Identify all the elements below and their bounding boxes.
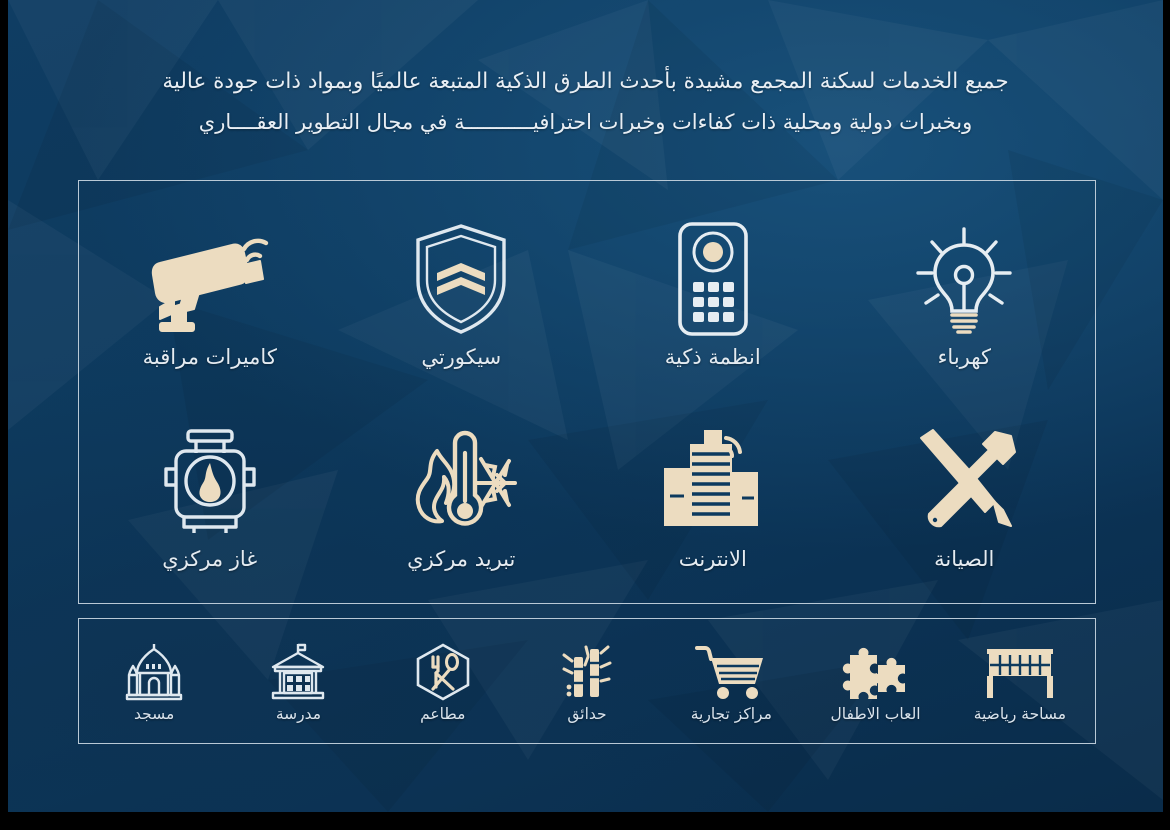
amenity-label: حدائق — [567, 705, 606, 723]
wrench-screwdriver-icon — [907, 423, 1021, 539]
bamboo-plants-icon — [560, 643, 614, 701]
service-item-surveillance-cameras[interactable]: كاميرات مراقبة — [84, 194, 336, 396]
lightbulb-icon — [908, 221, 1020, 337]
service-label: كهرباء — [938, 345, 991, 369]
shopping-cart-icon — [695, 643, 767, 701]
intro-paragraph: جميع الخدمات لسكنة المجمع مشيدة بأحدث ال… — [8, 62, 1163, 142]
poster-root: جميع الخدمات لسكنة المجمع مشيدة بأحدث ال… — [0, 0, 1170, 830]
buildings-wifi-icon — [656, 423, 770, 539]
goal-net-icon — [979, 643, 1061, 701]
services-grid: كهرباء — [78, 180, 1096, 604]
mosque-icon — [123, 643, 185, 701]
poster-canvas: جميع الخدمات لسكنة المجمع مشيدة بأحدث ال… — [8, 0, 1163, 812]
service-item-central-cooling[interactable]: تبريد مركزي — [336, 396, 588, 598]
service-item-internet[interactable]: الانترنت — [587, 396, 839, 598]
service-label: غاز مركزي — [162, 547, 257, 571]
amenity-item-sports-area[interactable]: مساحة رياضية — [948, 630, 1092, 736]
amenity-label: مطاعم — [420, 705, 465, 723]
service-item-security[interactable]: سيكورتي — [336, 194, 588, 396]
gas-cylinder-flame-icon — [154, 423, 266, 539]
service-label: الصيانة — [934, 547, 994, 571]
amenity-item-gardens[interactable]: حدائق — [515, 630, 659, 736]
amenity-item-restaurants[interactable]: مطاعم — [371, 630, 515, 736]
service-label: الانترنت — [679, 547, 747, 571]
service-item-smart-systems[interactable]: انظمة ذكية — [587, 194, 839, 396]
thermometer-snowflake-flame-icon — [399, 423, 523, 539]
service-item-electricity[interactable]: كهرباء — [839, 194, 1091, 396]
amenity-label: العاب الاطفال — [831, 705, 921, 723]
amenity-label: مدرسة — [276, 705, 321, 723]
amenity-item-mosque[interactable]: مسجد — [82, 630, 226, 736]
service-label: سيكورتي — [421, 345, 501, 369]
amenity-label: مسجد — [134, 705, 174, 723]
shield-chevron-icon — [411, 221, 511, 337]
fork-spoon-hexagon-icon — [413, 643, 473, 701]
service-label: انظمة ذكية — [665, 345, 761, 369]
amenity-item-school[interactable]: مدرسة — [226, 630, 370, 736]
service-item-central-gas[interactable]: غاز مركزي — [84, 396, 336, 598]
school-building-icon — [265, 643, 331, 701]
amenity-item-commercial-centers[interactable]: مراكز تجارية — [659, 630, 803, 736]
amenity-label: مساحة رياضية — [974, 705, 1066, 723]
amenities-row: مساحة رياضية العاب الاطفال — [78, 618, 1096, 744]
service-label: كاميرات مراقبة — [143, 345, 277, 369]
service-label: تبريد مركزي — [407, 547, 515, 571]
intro-line-1: جميع الخدمات لسكنة المجمع مشيدة بأحدث ال… — [68, 62, 1103, 102]
puzzle-pieces-icon — [844, 643, 908, 701]
cctv-camera-icon — [148, 221, 272, 337]
amenity-item-kids-games[interactable]: العاب الاطفال — [803, 630, 947, 736]
intro-line-2: وبخبرات دولية ومحلية ذات كفاءات وخبرات ا… — [68, 102, 1103, 142]
intercom-keypad-icon — [674, 221, 752, 337]
amenity-label: مراكز تجارية — [691, 705, 772, 723]
service-item-maintenance[interactable]: الصيانة — [839, 396, 1091, 598]
